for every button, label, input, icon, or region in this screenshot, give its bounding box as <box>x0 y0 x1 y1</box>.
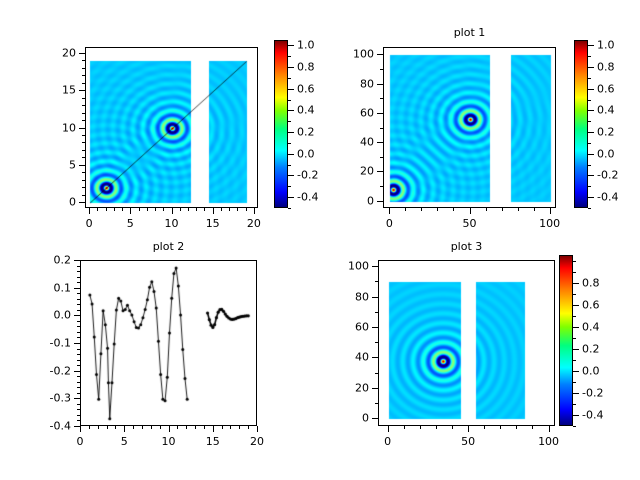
axes-plot0 <box>85 47 258 208</box>
ytick-minor <box>77 293 80 294</box>
ytick-minor <box>77 360 80 361</box>
colorbar-tick-label: 0.2 <box>297 126 315 139</box>
ytick-minor <box>82 98 85 99</box>
axes-plot2 <box>80 260 257 426</box>
ytick-label: -0.3 <box>0 392 71 405</box>
subplot-top-left: 0510152005101520 -0.4-0.20.00.20.40.60.8… <box>0 0 320 240</box>
colorbar-tick <box>288 67 294 68</box>
xtick-minor <box>246 208 247 211</box>
xtick-label: 5 <box>121 435 128 448</box>
ytick-minor <box>77 271 80 272</box>
heatmap-image-1 <box>384 48 556 208</box>
ytick-label: 60 <box>320 106 374 119</box>
xtick-label: 100 <box>538 435 559 448</box>
ytick-minor <box>77 420 80 421</box>
xtick-minor <box>204 208 205 211</box>
ytick-minor <box>375 297 378 298</box>
xtick-minor <box>436 426 437 429</box>
colorbar-minor-tick <box>588 143 591 144</box>
ytick-minor <box>77 393 80 394</box>
colorbar-tick <box>588 154 594 155</box>
colorbar-tick <box>588 45 594 46</box>
ytick-minor <box>77 299 80 300</box>
xtick-minor <box>229 208 230 211</box>
ytick-minor <box>82 68 85 69</box>
ytick-minor <box>77 365 80 366</box>
colorbar-tick <box>288 110 294 111</box>
xtick-minor <box>147 208 148 211</box>
colorbar-tick-label: 0.6 <box>582 298 600 311</box>
colorbar-tick <box>288 154 294 155</box>
colorbar-tick-label: -0.2 <box>597 169 618 182</box>
ytick-minor <box>380 128 383 129</box>
ytick-minor <box>77 387 80 388</box>
ytick-minor <box>82 195 85 196</box>
ytick-minor <box>375 357 378 358</box>
xtick-minor <box>106 208 107 211</box>
xtick-minor <box>550 208 551 211</box>
xtick-label: 20 <box>250 435 264 448</box>
colorbar-minor-tick <box>588 186 591 187</box>
colorbar-minor-tick <box>288 208 291 209</box>
colorbar-tick-label: -0.4 <box>582 408 603 421</box>
xtick-minor <box>237 208 238 211</box>
colorbar-minor-tick <box>288 165 291 166</box>
colorbar-tick <box>573 349 579 350</box>
ytick-minor <box>380 113 383 114</box>
ytick-label: 100 <box>320 260 369 273</box>
ytick-label: -0.2 <box>0 364 71 377</box>
xtick-minor <box>98 426 99 429</box>
colorbar-tick <box>288 197 294 198</box>
colorbar-minor-tick <box>573 404 576 405</box>
xtick-label: 50 <box>463 217 477 230</box>
xtick-minor <box>453 208 454 211</box>
colorbar-tick <box>573 393 579 394</box>
colorbar-tick <box>588 110 594 111</box>
ytick-minor <box>77 332 80 333</box>
colorbar-minor-tick <box>573 426 576 427</box>
ytick-minor <box>77 304 80 305</box>
ytick-label: 40 <box>320 136 374 149</box>
xtick-minor <box>139 208 140 211</box>
ytick-minor <box>77 382 80 383</box>
xtick-minor <box>532 426 533 429</box>
ytick-label: 0 <box>320 412 369 425</box>
xtick-minor <box>470 208 471 211</box>
ytick-label: 80 <box>320 77 374 90</box>
xtick-minor <box>437 208 438 211</box>
ytick-label: 10 <box>0 121 76 134</box>
colorbar-minor-tick <box>588 100 591 101</box>
colorbar-minor-tick <box>573 316 576 317</box>
ytick-minor <box>77 315 80 316</box>
xtick-label: 15 <box>206 217 220 230</box>
colorbar-minor-tick <box>573 261 576 262</box>
colorbar-tick-label: 0.8 <box>582 276 600 289</box>
ytick-label: 0 <box>320 194 374 207</box>
ytick-minor <box>77 415 80 416</box>
ytick-minor <box>375 373 378 374</box>
ytick-minor <box>77 354 80 355</box>
ytick-minor <box>380 98 383 99</box>
xtick-minor <box>122 208 123 211</box>
colorbar-tick-label: 0.0 <box>582 364 600 377</box>
heatmap-image-0 <box>86 48 258 208</box>
colorbar-tick <box>573 371 579 372</box>
colorbar-0 <box>274 40 288 208</box>
colorbar-tick-label: 0.8 <box>297 61 315 74</box>
ytick-label: 15 <box>0 84 76 97</box>
ytick-label: 80 <box>320 290 369 303</box>
ytick-minor <box>375 342 378 343</box>
colorbar-tick-label: 1.0 <box>597 39 615 52</box>
xtick-minor <box>518 208 519 211</box>
xtick-minor <box>107 426 108 429</box>
xtick-minor <box>405 208 406 211</box>
xtick-minor <box>421 208 422 211</box>
ytick-minor <box>82 202 85 203</box>
xtick-minor <box>452 426 453 429</box>
xtick-minor <box>186 426 187 429</box>
xtick-minor <box>155 208 156 211</box>
ytick-minor <box>82 142 85 143</box>
colorbar-minor-tick <box>588 208 591 209</box>
ytick-label: 20 <box>0 46 76 59</box>
colorbar-tick-label: 0.4 <box>582 320 600 333</box>
ytick-minor <box>77 282 80 283</box>
xtick-minor <box>239 426 240 429</box>
ytick-minor <box>82 180 85 181</box>
heatmap-image-3 <box>379 261 555 426</box>
ytick-minor <box>82 60 85 61</box>
xtick-minor <box>124 426 125 429</box>
colorbar-minor-tick <box>288 143 291 144</box>
ytick-minor <box>375 418 378 419</box>
colorbar-tick <box>288 89 294 90</box>
ytick-minor <box>82 90 85 91</box>
colorbar-minor-tick <box>573 272 576 273</box>
ytick-minor <box>380 142 383 143</box>
ytick-label: 40 <box>320 351 369 364</box>
ytick-label: -0.4 <box>0 420 71 433</box>
subplot-title-2: plot 2 <box>80 240 257 253</box>
colorbar-tick-label: 0.6 <box>297 82 315 95</box>
colorbar-tick <box>588 67 594 68</box>
ytick-label: 5 <box>0 158 76 171</box>
xtick-minor <box>151 426 152 429</box>
ytick-minor <box>77 349 80 350</box>
colorbar-minor-tick <box>588 165 591 166</box>
ytick-minor <box>380 69 383 70</box>
ytick-minor <box>77 337 80 338</box>
ytick-minor <box>77 266 80 267</box>
xtick-minor <box>248 426 249 429</box>
ytick-minor <box>82 187 85 188</box>
xtick-minor <box>133 426 134 429</box>
ytick-minor <box>375 403 378 404</box>
colorbar-tick-label: 0.0 <box>297 147 315 160</box>
ytick-label: 100 <box>320 48 374 61</box>
xtick-minor <box>221 208 222 211</box>
xtick-label: 0 <box>386 217 393 230</box>
ytick-minor <box>77 343 80 344</box>
ytick-minor <box>77 376 80 377</box>
ytick-minor <box>375 266 378 267</box>
ytick-minor <box>375 388 378 389</box>
xtick-minor <box>89 208 90 211</box>
colorbar-tick-label: 0.6 <box>597 82 615 95</box>
ytick-minor <box>77 321 80 322</box>
colorbar-3 <box>559 255 573 426</box>
ytick-minor <box>77 310 80 311</box>
colorbar-minor-tick <box>288 186 291 187</box>
ytick-minor <box>82 120 85 121</box>
xtick-minor <box>486 208 487 211</box>
colorbar-tick-label: 1.0 <box>297 39 315 52</box>
ytick-label: 60 <box>320 321 369 334</box>
ytick-minor <box>82 128 85 129</box>
colorbar-tick <box>588 89 594 90</box>
ytick-label: 0 <box>0 196 76 209</box>
colorbar-tick-label: 0.2 <box>582 342 600 355</box>
ytick-minor <box>82 83 85 84</box>
colorbar-tick <box>573 305 579 306</box>
ytick-label: 0.1 <box>0 281 71 294</box>
xtick-minor <box>516 426 517 429</box>
colorbar-tick-label: -0.4 <box>297 191 318 204</box>
colorbar-tick-label: 0.2 <box>597 126 615 139</box>
colorbar-tick <box>588 132 594 133</box>
subplot-top-right: plot 1 050100020406080100 -0.4-0.20.00.2… <box>320 0 640 240</box>
ytick-minor <box>77 277 80 278</box>
colorbar-tick <box>573 327 579 328</box>
xtick-label: 10 <box>165 217 179 230</box>
xtick-minor <box>115 426 116 429</box>
colorbar-tick-label: -0.2 <box>582 386 603 399</box>
xtick-label: 20 <box>247 217 261 230</box>
xtick-minor <box>114 208 115 211</box>
ytick-minor <box>82 135 85 136</box>
ytick-minor <box>82 150 85 151</box>
xtick-label: 15 <box>206 435 220 448</box>
xtick-minor <box>213 208 214 211</box>
ytick-minor <box>82 113 85 114</box>
xtick-minor <box>500 426 501 429</box>
colorbar-tick-label: -0.4 <box>597 191 618 204</box>
colorbar-tick <box>573 415 579 416</box>
ytick-minor <box>77 288 80 289</box>
ytick-minor <box>375 312 378 313</box>
ytick-label: -0.1 <box>0 337 71 350</box>
xtick-label: 0 <box>86 217 93 230</box>
colorbar-minor-tick <box>573 294 576 295</box>
xtick-minor <box>130 208 131 211</box>
xtick-minor <box>468 426 469 429</box>
ytick-minor <box>380 201 383 202</box>
xtick-minor <box>213 426 214 429</box>
ytick-minor <box>77 404 80 405</box>
xtick-minor <box>257 426 258 429</box>
ytick-minor <box>375 281 378 282</box>
subplot-bottom-right: plot 3 050100020406080100 -0.4-0.20.00.2… <box>320 240 640 480</box>
xtick-minor <box>160 426 161 429</box>
xtick-minor <box>254 208 255 211</box>
ytick-minor <box>380 171 383 172</box>
colorbar-tick-label: 0.8 <box>597 61 615 74</box>
colorbar-minor-tick <box>288 78 291 79</box>
ytick-label: 0.0 <box>0 309 71 322</box>
xtick-minor <box>502 208 503 211</box>
colorbar-minor-tick <box>573 382 576 383</box>
xtick-minor <box>389 208 390 211</box>
colorbar-tick <box>588 175 594 176</box>
xtick-minor <box>169 426 170 429</box>
ytick-minor <box>375 327 378 328</box>
ytick-minor <box>380 84 383 85</box>
xtick-label: 0 <box>77 435 84 448</box>
xtick-label: 5 <box>127 217 134 230</box>
ytick-minor <box>77 371 80 372</box>
xtick-minor <box>180 208 181 211</box>
colorbar-minor-tick <box>573 360 576 361</box>
xtick-minor <box>177 426 178 429</box>
xtick-minor <box>404 426 405 429</box>
ytick-minor <box>82 172 85 173</box>
colorbar-tick <box>288 175 294 176</box>
colorbar-minor-tick <box>588 56 591 57</box>
ytick-minor <box>82 157 85 158</box>
xtick-minor <box>222 426 223 429</box>
colorbar-tick-label: 0.0 <box>597 147 615 160</box>
ytick-minor <box>380 186 383 187</box>
axes-plot1 <box>383 47 556 208</box>
ytick-label: 20 <box>320 165 374 178</box>
ytick-label: 0.2 <box>0 254 71 267</box>
subplot-title-3: plot 3 <box>378 240 555 253</box>
xtick-minor <box>89 426 90 429</box>
axes-plot3 <box>378 260 555 426</box>
colorbar-tick-label: -0.2 <box>297 169 318 182</box>
xtick-minor <box>97 208 98 211</box>
colorbar-minor-tick <box>573 338 576 339</box>
ytick-minor <box>380 157 383 158</box>
xtick-minor <box>549 426 550 429</box>
xtick-minor <box>420 426 421 429</box>
colorbar-minor-tick <box>288 121 291 122</box>
colorbar-minor-tick <box>588 121 591 122</box>
xtick-minor <box>163 208 164 211</box>
xtick-minor <box>172 208 173 211</box>
xtick-minor <box>388 426 389 429</box>
ytick-minor <box>82 53 85 54</box>
line-series-canvas-2 <box>81 261 257 426</box>
xtick-minor <box>142 426 143 429</box>
ytick-minor <box>82 105 85 106</box>
xtick-minor <box>484 426 485 429</box>
colorbar-tick <box>573 283 579 284</box>
ytick-minor <box>82 75 85 76</box>
colorbar-minor-tick <box>288 100 291 101</box>
ytick-minor <box>77 398 80 399</box>
xtick-label: 100 <box>539 217 560 230</box>
ytick-minor <box>77 409 80 410</box>
colorbar-tick <box>588 197 594 198</box>
ytick-minor <box>77 426 80 427</box>
colorbar-tick-label: 0.4 <box>597 104 615 117</box>
ytick-label: 20 <box>320 381 369 394</box>
xtick-minor <box>230 426 231 429</box>
subplot-title-1: plot 1 <box>383 26 556 39</box>
colorbar-minor-tick <box>288 56 291 57</box>
figure-canvas: 0510152005101520 -0.4-0.20.00.20.40.60.8… <box>0 0 640 480</box>
xtick-minor <box>196 208 197 211</box>
xtick-minor <box>188 208 189 211</box>
ytick-minor <box>77 260 80 261</box>
colorbar-minor-tick <box>588 78 591 79</box>
xtick-minor <box>534 208 535 211</box>
xtick-minor <box>80 426 81 429</box>
colorbar-tick-label: 0.4 <box>297 104 315 117</box>
xtick-minor <box>195 426 196 429</box>
colorbar-tick <box>288 45 294 46</box>
ytick-minor <box>380 54 383 55</box>
ytick-minor <box>77 326 80 327</box>
colorbar-tick <box>288 132 294 133</box>
colorbar-1 <box>574 40 588 208</box>
xtick-label: 50 <box>461 435 475 448</box>
xtick-label: 0 <box>384 435 391 448</box>
ytick-minor <box>82 165 85 166</box>
xtick-label: 10 <box>162 435 176 448</box>
subplot-bottom-left: plot 2 05101520-0.4-0.3-0.2-0.10.00.10.2 <box>0 240 320 480</box>
xtick-minor <box>204 426 205 429</box>
